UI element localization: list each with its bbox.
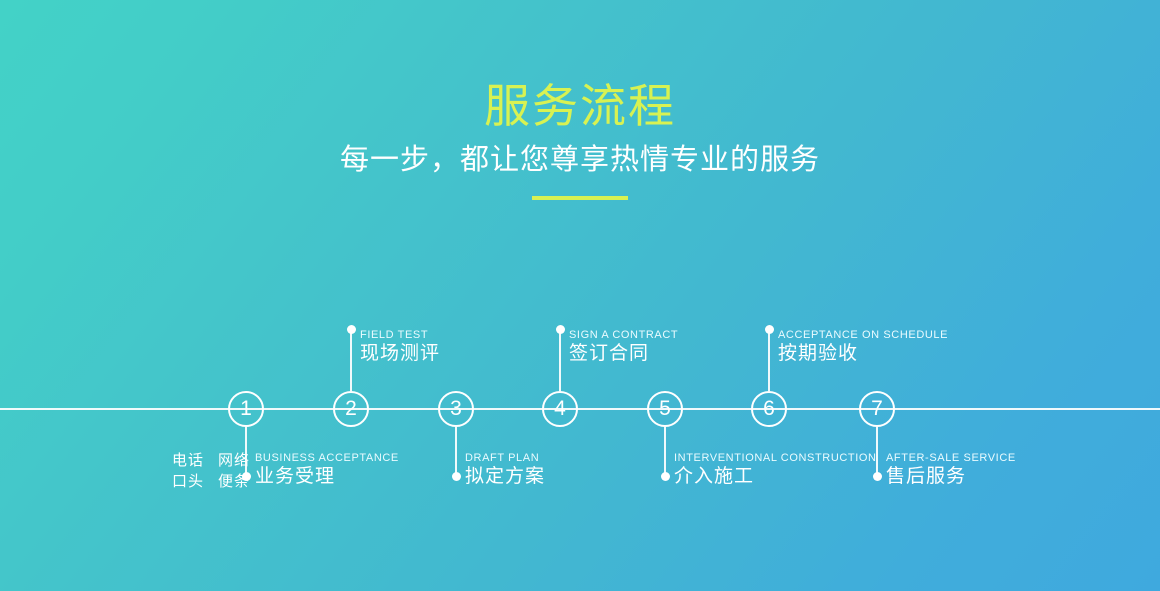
timeline-dot-5 (661, 472, 670, 481)
step-3-label-cn: 拟定方案 (465, 465, 545, 489)
step-3-label-en: DRAFT PLAN (465, 451, 545, 465)
step-1-label-cn: 业务受理 (255, 465, 399, 489)
step-1-keyword-row-2: 口头便条 (172, 471, 264, 492)
step-7-label: AFTER-SALE SERVICE 售后服务 (886, 451, 1016, 489)
timeline-stem-3 (455, 427, 457, 477)
title-underline-rule (532, 196, 628, 200)
timeline-dot-3 (452, 472, 461, 481)
step-7-label-en: AFTER-SALE SERVICE (886, 451, 1016, 465)
step-4-label: SIGN A CONTRACT 签订合同 (569, 328, 678, 366)
step-5-label-cn: 介入施工 (674, 465, 877, 489)
timeline-dot-7 (873, 472, 882, 481)
timeline-stem-7 (876, 427, 878, 477)
page-title: 服务流程 (0, 80, 1160, 132)
timeline-dot-2 (347, 325, 356, 334)
timeline-node-1[interactable]: 1 (228, 391, 264, 427)
step-1-keywords: 电话网络 口头便条 (172, 450, 264, 492)
step-1-keyword-verbal: 口头 (172, 471, 218, 492)
header: 服务流程 每一步，都让您尊享热情专业的服务 (0, 80, 1160, 200)
step-6-label-cn: 按期验收 (778, 342, 948, 366)
step-2-label: FIELD TEST 现场测评 (360, 328, 440, 366)
timeline-stem-5 (664, 427, 666, 477)
timeline-dot-6 (765, 325, 774, 334)
timeline-axis (0, 408, 1160, 410)
step-6-label: ACCEPTANCE ON SCHEDULE 按期验收 (778, 328, 948, 366)
service-process-infographic: 服务流程 每一步，都让您尊享热情专业的服务 1 电话网络 口头便条 BUSINE… (0, 0, 1160, 591)
timeline-stem-2 (350, 330, 352, 391)
timeline-node-5[interactable]: 5 (647, 391, 683, 427)
timeline-stem-4 (559, 330, 561, 391)
timeline-node-3[interactable]: 3 (438, 391, 474, 427)
step-1-label: BUSINESS ACCEPTANCE 业务受理 (255, 451, 399, 489)
step-7-label-cn: 售后服务 (886, 465, 1016, 489)
step-5-label-en: INTERVENTIONAL CONSTRUCTION (674, 451, 877, 465)
timeline-node-2[interactable]: 2 (333, 391, 369, 427)
timeline-stem-6 (768, 330, 770, 391)
timeline-node-7[interactable]: 7 (859, 391, 895, 427)
step-2-label-cn: 现场测评 (360, 342, 440, 366)
timeline-node-6[interactable]: 6 (751, 391, 787, 427)
step-4-label-en: SIGN A CONTRACT (569, 328, 678, 342)
step-3-label: DRAFT PLAN 拟定方案 (465, 451, 545, 489)
timeline-node-4[interactable]: 4 (542, 391, 578, 427)
step-4-label-cn: 签订合同 (569, 342, 678, 366)
step-5-label: INTERVENTIONAL CONSTRUCTION 介入施工 (674, 451, 877, 489)
step-1-keyword-phone: 电话 (172, 450, 218, 471)
step-6-label-en: ACCEPTANCE ON SCHEDULE (778, 328, 948, 342)
step-1-keyword-row-1: 电话网络 (172, 450, 264, 471)
page-subtitle: 每一步，都让您尊享热情专业的服务 (0, 140, 1160, 180)
step-2-label-en: FIELD TEST (360, 328, 440, 342)
timeline-dot-4 (556, 325, 565, 334)
step-1-label-en: BUSINESS ACCEPTANCE (255, 451, 399, 465)
